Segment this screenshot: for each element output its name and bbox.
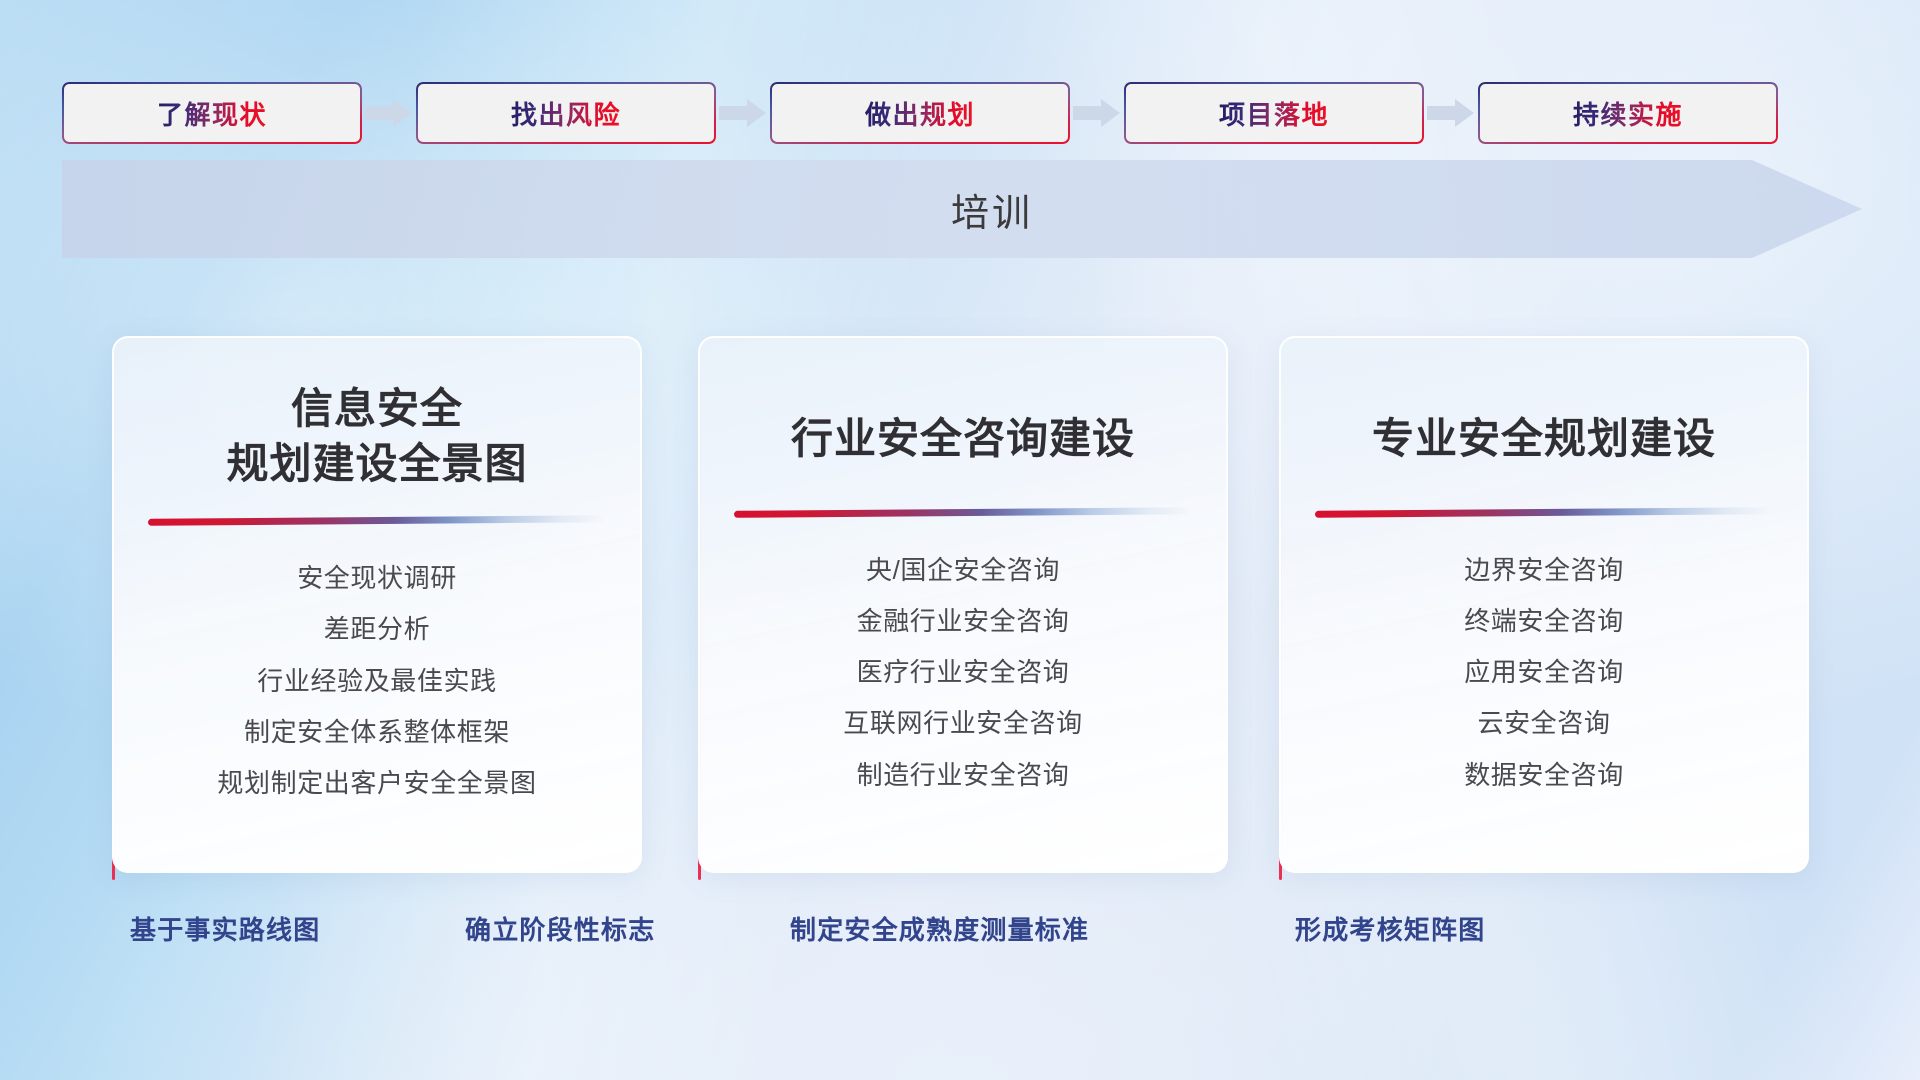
step-box-4[interactable]: 项目落地 [1124, 82, 1424, 144]
card-title: 专业安全规划建设 [1354, 412, 1734, 467]
list-item: 终端安全咨询 [1464, 601, 1624, 641]
step-label-1: 了解现状 [157, 95, 267, 132]
list-item: 云安全咨询 [1477, 703, 1610, 743]
card-divider [734, 507, 1192, 518]
card-information-security[interactable]: 信息安全 规划建设全景图 安全现状调研 差距分析 行业经验及最佳实践 制定安全体… [112, 336, 642, 873]
list-item: 应用安全咨询 [1464, 652, 1624, 692]
card-professional-security-planning[interactable]: 专业安全规划建设 边界安全咨询 终端安全咨询 应用安全咨询 云安全咨询 数据安全… [1279, 336, 1809, 873]
card-divider [1315, 507, 1773, 518]
list-item: 金融行业安全咨询 [857, 601, 1070, 641]
list-item: 制造行业安全咨询 [857, 755, 1070, 795]
step-label-5: 持续实施 [1573, 95, 1683, 132]
list-item: 制定安全体系整体框架 [244, 712, 510, 752]
card-group: 信息安全 规划建设全景图 安全现状调研 差距分析 行业经验及最佳实践 制定安全体… [0, 336, 1920, 876]
card-title: 信息安全 规划建设全景图 [208, 382, 545, 491]
list-item: 互联网行业安全咨询 [843, 703, 1082, 743]
list-item: 规划制定出客户安全全景图 [217, 763, 536, 803]
list-item: 央/国企安全咨询 [866, 550, 1060, 590]
list-item: 边界安全咨询 [1464, 550, 1624, 590]
card-list: 安全现状调研 差距分析 行业经验及最佳实践 制定安全体系整体框架 规划制定出客户… [114, 558, 640, 803]
step-box-3[interactable]: 做出规划 [770, 82, 1070, 144]
arrow-right-icon-1 [363, 96, 415, 130]
footer-label-milestone: 确立阶段性标志 [465, 910, 655, 947]
list-item: 数据安全咨询 [1464, 755, 1624, 795]
footer-label-matrix: 形成考核矩阵图 [1295, 910, 1485, 947]
step-label-3: 做出规划 [865, 95, 975, 132]
step-label-2: 找出风险 [511, 95, 621, 132]
arrow-right-icon-2 [717, 96, 769, 130]
step-box-5[interactable]: 持续实施 [1478, 82, 1778, 144]
list-item: 安全现状调研 [297, 558, 457, 598]
slide-canvas: 了解现状 找出风险 做出规划 项目落地 [0, 0, 1920, 1080]
footer-label-maturity: 制定安全成熟度测量标准 [790, 910, 1089, 947]
training-banner-label: 培训 [62, 160, 1862, 258]
card-list: 边界安全咨询 终端安全咨询 应用安全咨询 云安全咨询 数据安全咨询 [1281, 550, 1807, 795]
card-industry-security-consulting[interactable]: 行业安全咨询建设 央/国企安全咨询 金融行业安全咨询 医疗行业安全咨询 互联网行… [698, 336, 1228, 873]
step-box-1[interactable]: 了解现状 [62, 82, 362, 144]
arrow-right-icon-3 [1071, 96, 1123, 130]
process-step-flow: 了解现状 找出风险 做出规划 项目落地 [62, 78, 1862, 148]
step-box-2[interactable]: 找出风险 [416, 82, 716, 144]
card-list: 央/国企安全咨询 金融行业安全咨询 医疗行业安全咨询 互联网行业安全咨询 制造行… [700, 550, 1226, 795]
footer-label-group: 基于事实路线图 确立阶段性标志 制定安全成熟度测量标准 形成考核矩阵图 [0, 910, 1920, 960]
card-divider [148, 515, 606, 526]
list-item: 差距分析 [324, 609, 430, 649]
footer-label-roadmap: 基于事实路线图 [130, 910, 320, 947]
step-label-4: 项目落地 [1219, 95, 1329, 132]
arrow-right-icon-4 [1425, 96, 1477, 130]
list-item: 行业经验及最佳实践 [257, 661, 496, 701]
list-item: 医疗行业安全咨询 [857, 652, 1070, 692]
card-title: 行业安全咨询建设 [773, 412, 1153, 467]
training-banner: 培训 [62, 160, 1862, 258]
